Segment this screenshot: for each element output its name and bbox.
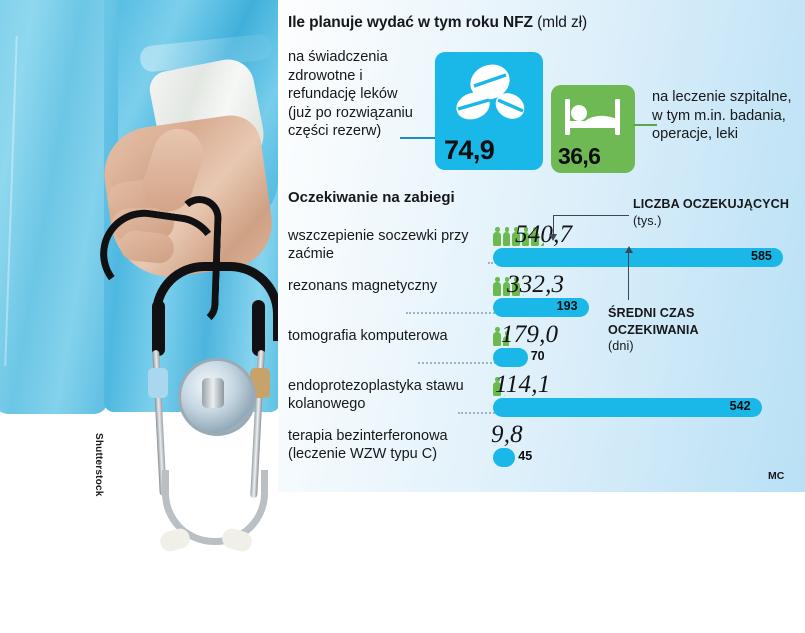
- author-signature: MC: [768, 470, 784, 482]
- annotation-days-label: ŚREDNI CZAS OCZEKIWANIA: [608, 306, 699, 337]
- annotation-people: LICZBA OCZEKUJĄCYCH (tys.): [633, 196, 798, 229]
- budget-value-hospital: 36,6: [558, 143, 600, 170]
- days-bar: [493, 448, 515, 467]
- days-bar: [493, 398, 762, 417]
- hospital-bed-icon: [551, 91, 635, 143]
- annotation-days-unit: (dni): [608, 339, 634, 353]
- days-value: 193: [557, 299, 578, 313]
- pointer-people-arrow: [549, 234, 557, 241]
- days-value: 585: [751, 249, 772, 263]
- person-icon: [493, 227, 501, 246]
- page-title: Ile planuje wydać w tym roku NFZ (mld zł…: [288, 14, 587, 32]
- page-title-unit: (mld zł): [537, 14, 587, 31]
- stethoscope-clip-left: [148, 368, 168, 398]
- annotation-days: ŚREDNI CZAS OCZEKIWANIA (dni): [608, 305, 758, 355]
- page-title-main: Ile planuje wydać w tym roku NFZ: [288, 14, 533, 31]
- person-icon: [503, 227, 511, 246]
- leader-line-left: [400, 137, 440, 139]
- waiting-row: endoprotezoplastyka stawu kolanowego114,…: [288, 374, 788, 424]
- budget-left-label: na świadczenia zdrowotne i refundację le…: [288, 48, 423, 141]
- waiting-row-name: wszczepienie soczewki przy zaćmie: [288, 227, 500, 263]
- budget-right-label: na leczenie szpitalne, w tym m.in. badan…: [652, 88, 802, 144]
- people-value: 540,7: [515, 221, 572, 249]
- waiting-row-name: rezonans magnetyczny: [288, 277, 500, 295]
- days-value: 542: [730, 399, 751, 413]
- budget-tile-hospital: 36,6: [551, 85, 635, 173]
- waiting-row-name: tomografia komputerowa: [288, 327, 500, 345]
- days-value: 70: [531, 349, 545, 363]
- pointer-days-arrow: [625, 246, 633, 253]
- budget-tile-services: 74,9: [435, 52, 543, 170]
- days-value: 45: [518, 449, 532, 463]
- waiting-row: terapia bezinterferonowa (leczenie WZW t…: [288, 424, 788, 474]
- doctor-photo: Shutterstock: [0, 0, 288, 633]
- people-value: 332,3: [507, 271, 564, 299]
- stethoscope-eartube-right: [252, 300, 265, 356]
- waiting-row-dots: [406, 298, 506, 314]
- pointer-days-vertical: [628, 250, 629, 300]
- stethoscope-eartube-left: [152, 300, 165, 356]
- scrub-gown-left: [0, 0, 108, 414]
- person-icon: [493, 277, 501, 296]
- annotation-people-label: LICZBA OCZEKUJĄCYCH: [633, 197, 789, 211]
- photo-credit: Shutterstock: [93, 433, 104, 497]
- pointer-people-horizontal: [553, 215, 629, 216]
- pills-icon: [435, 62, 543, 126]
- person-icon: [493, 327, 501, 346]
- people-value: 114,1: [495, 371, 550, 399]
- annotation-people-unit: (tys.): [633, 214, 662, 228]
- people-value: 179,0: [501, 321, 558, 349]
- stethoscope-stem: [202, 378, 224, 408]
- panel-bottom-fade: [278, 492, 805, 633]
- people-value: 9,8: [491, 421, 523, 449]
- days-bar: [493, 348, 528, 367]
- budget-value-services: 74,9: [444, 135, 494, 166]
- infographic-root: Shutterstock Ile planuje wydać w tym rok…: [0, 0, 805, 633]
- waiting-row: wszczepienie soczewki przy zaćmie540,758…: [288, 224, 788, 274]
- waiting-row-name: terapia bezinterferonowa (leczenie WZW t…: [288, 427, 500, 463]
- section-title-waiting: Oczekiwanie na zabiegi: [288, 189, 455, 206]
- days-bar: [493, 248, 783, 267]
